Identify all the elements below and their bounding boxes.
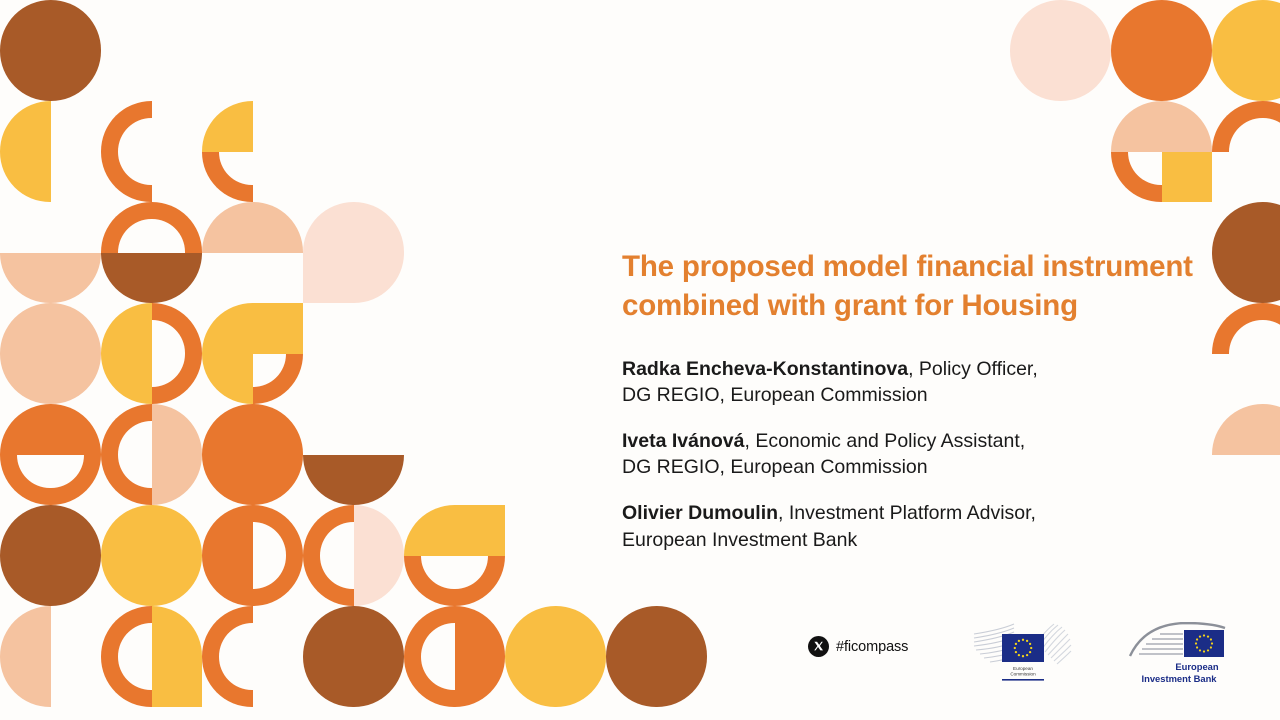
pattern-quarter-arc <box>101 606 152 657</box>
pattern-quarter-arc <box>1111 152 1162 203</box>
pattern-circle <box>1212 303 1280 404</box>
pattern-quarter-pie <box>202 404 253 455</box>
pattern-quarter-sq <box>152 657 203 708</box>
pattern-quarter-pie <box>51 253 102 304</box>
pattern-circle <box>303 202 404 303</box>
european-investment-bank-logo: European Investment Bank <box>1127 622 1231 688</box>
pattern-quarter-pie <box>202 101 253 152</box>
pattern-circle <box>1212 101 1280 202</box>
pattern-quarter-arc <box>101 455 152 506</box>
speaker-name: Radka Encheva-Konstantinova <box>622 358 908 380</box>
pattern-quarter-pie <box>202 354 253 405</box>
pattern-circle <box>101 505 202 606</box>
pattern-quarter-arc <box>101 101 152 152</box>
pattern-quarter-pie <box>101 303 152 354</box>
pattern-quarter-pie <box>556 657 607 708</box>
speaker-name: Olivier Dumoulin <box>622 502 778 524</box>
pattern-quarter-arc <box>202 657 253 708</box>
pattern-quarter-pie <box>0 354 51 405</box>
pattern-quarter-pie <box>0 606 51 657</box>
pattern-quarter-pie <box>1111 51 1162 102</box>
pattern-quarter-arc <box>202 606 253 657</box>
pattern-quarter-pie <box>51 556 102 607</box>
pattern-quarter-pie <box>0 152 51 203</box>
pattern-circle <box>101 606 202 707</box>
pattern-quarter-pie <box>152 556 203 607</box>
pattern-quarter-pie <box>101 253 152 304</box>
pattern-quarter-pie <box>455 606 506 657</box>
ficompass-social[interactable]: #ficompass <box>808 636 908 657</box>
speaker-affiliation: DG REGIO, European Commission <box>622 384 928 406</box>
pattern-quarter-pie <box>51 404 102 455</box>
pattern-quarter-pie <box>1061 0 1112 51</box>
pattern-quarter-pie <box>354 253 405 304</box>
pattern-quarter-pie <box>0 556 51 607</box>
pattern-quarter-arc <box>455 556 506 607</box>
pattern-quarter-pie <box>505 606 556 657</box>
footer-logos: #ficompass European <box>622 618 1232 708</box>
pattern-circle <box>505 606 606 707</box>
pattern-quarter-pie <box>1212 202 1263 253</box>
pattern-quarter-pie <box>303 202 354 253</box>
pattern-quarter-arc <box>101 657 152 708</box>
pattern-circle <box>0 505 101 606</box>
pattern-circle <box>0 303 101 404</box>
pattern-quarter-pie <box>253 404 304 455</box>
pattern-circle <box>303 606 404 707</box>
pattern-circle <box>0 404 101 505</box>
pattern-circle <box>1111 101 1212 202</box>
pattern-quarter-arc <box>404 606 455 657</box>
pattern-quarter-pie <box>1010 0 1061 51</box>
pattern-circle <box>101 202 202 303</box>
pattern-quarter-arc <box>1212 101 1263 152</box>
pattern-quarter-pie <box>1263 51 1280 102</box>
pattern-quarter-arc <box>101 404 152 455</box>
ec-caption-line2: Commission <box>1010 672 1036 677</box>
pattern-quarter-arc <box>253 556 304 607</box>
speaker-entry: Iveta Ivánová, Economic and Policy Assis… <box>622 428 1202 480</box>
pattern-quarter-pie <box>152 253 203 304</box>
pattern-quarter-arc <box>1263 101 1280 152</box>
pattern-quarter-pie <box>1263 253 1280 304</box>
pattern-quarter-pie <box>0 51 51 102</box>
pattern-quarter-arc <box>253 354 304 405</box>
x-twitter-icon[interactable] <box>808 636 829 657</box>
pattern-quarter-pie <box>1010 51 1061 102</box>
pattern-quarter-pie <box>0 253 51 304</box>
pattern-circle <box>404 606 505 707</box>
pattern-quarter-arc <box>1263 303 1280 354</box>
pattern-circle <box>1212 202 1280 303</box>
pattern-quarter-pie <box>0 505 51 556</box>
speaker-name: Iveta Ivánová <box>622 430 744 452</box>
ec-caption-line1: European <box>1013 666 1033 671</box>
pattern-quarter-pie <box>202 505 253 556</box>
pattern-quarter-pie <box>1061 51 1112 102</box>
pattern-quarter-pie <box>354 556 405 607</box>
pattern-circle <box>202 404 303 505</box>
pattern-quarter-arc <box>152 354 203 405</box>
pattern-quarter-sq <box>303 253 354 304</box>
pattern-quarter-pie <box>152 404 203 455</box>
pattern-quarter-arc <box>1212 303 1263 354</box>
pattern-circle <box>0 202 101 303</box>
pattern-quarter-pie <box>152 455 203 506</box>
pattern-quarter-arc <box>0 455 51 506</box>
pattern-circle <box>303 505 404 606</box>
pattern-quarter-pie <box>51 303 102 354</box>
pattern-quarter-pie <box>404 505 455 556</box>
pattern-circle <box>1010 0 1111 101</box>
pattern-quarter-pie <box>0 0 51 51</box>
pattern-quarter-pie <box>354 657 405 708</box>
pattern-quarter-pie <box>556 606 607 657</box>
pattern-quarter-pie <box>1162 101 1213 152</box>
pattern-circle <box>0 0 101 101</box>
pattern-circle <box>1212 0 1280 101</box>
pattern-quarter-pie <box>202 202 253 253</box>
pattern-quarter-pie <box>1263 0 1280 51</box>
pattern-quarter-arc <box>51 455 102 506</box>
speaker-affiliation: DG REGIO, European Commission <box>622 456 928 478</box>
eib-caption-line1: European <box>1175 661 1219 672</box>
pattern-quarter-pie <box>1212 0 1263 51</box>
pattern-circle <box>202 505 303 606</box>
pattern-quarter-arc <box>253 505 304 556</box>
european-commission-logo: European Commission <box>970 622 1076 684</box>
pattern-quarter-pie <box>1111 101 1162 152</box>
pattern-quarter-arc <box>152 202 203 253</box>
pattern-quarter-arc <box>101 152 152 203</box>
pattern-quarter-pie <box>1162 51 1213 102</box>
pattern-circle <box>101 303 202 404</box>
pattern-circle <box>1111 0 1212 101</box>
pattern-quarter-arc <box>101 202 152 253</box>
pattern-quarter-arc <box>404 556 455 607</box>
pattern-quarter-pie <box>101 354 152 405</box>
pattern-circle <box>101 101 202 202</box>
pattern-quarter-pie <box>303 657 354 708</box>
pattern-quarter-pie <box>202 303 253 354</box>
pattern-circle <box>202 202 303 303</box>
speaker-role: , Economic and Policy Assistant, <box>744 430 1025 452</box>
pattern-quarter-pie <box>51 505 102 556</box>
pattern-quarter-pie <box>253 202 304 253</box>
pattern-quarter-pie <box>202 455 253 506</box>
pattern-quarter-sq <box>1162 152 1213 203</box>
pattern-quarter-pie <box>1212 253 1263 304</box>
pattern-quarter-arc <box>152 303 203 354</box>
pattern-circle <box>202 606 303 707</box>
pattern-quarter-pie <box>1162 0 1213 51</box>
pattern-circle <box>202 303 303 404</box>
pattern-quarter-pie <box>0 101 51 152</box>
pattern-circle <box>101 404 202 505</box>
pattern-quarter-pie <box>303 455 354 506</box>
pattern-quarter-sq <box>253 303 304 354</box>
pattern-circle <box>0 606 101 707</box>
pattern-quarter-arc <box>404 657 455 708</box>
pattern-quarter-arc <box>202 152 253 203</box>
pattern-circle <box>404 505 505 606</box>
content-block: The proposed model financial instrument … <box>622 248 1202 553</box>
pattern-quarter-pie <box>0 303 51 354</box>
speaker-affiliation: European Investment Bank <box>622 529 857 551</box>
pattern-quarter-pie <box>51 0 102 51</box>
pattern-quarter-pie <box>101 505 152 556</box>
pattern-quarter-pie <box>202 556 253 607</box>
speaker-entry: Radka Encheva-Konstantinova, Policy Offi… <box>622 356 1202 408</box>
pattern-circle <box>1212 404 1280 505</box>
pattern-circle <box>202 101 303 202</box>
pattern-quarter-pie <box>152 606 203 657</box>
slide-canvas: The proposed model financial instrument … <box>0 0 1280 720</box>
pattern-quarter-pie <box>1212 51 1263 102</box>
pattern-quarter-pie <box>505 657 556 708</box>
pattern-quarter-pie <box>354 606 405 657</box>
pattern-quarter-pie <box>455 657 506 708</box>
ficompass-label: #ficompass <box>836 639 908 655</box>
speaker-role: , Investment Platform Advisor, <box>778 502 1036 524</box>
pattern-quarter-pie <box>253 455 304 506</box>
pattern-quarter-pie <box>0 657 51 708</box>
pattern-quarter-arc <box>303 556 354 607</box>
speaker-role: , Policy Officer, <box>908 358 1038 380</box>
pattern-quarter-pie <box>1111 0 1162 51</box>
pattern-quarter-pie <box>1212 404 1263 455</box>
pattern-quarter-pie <box>51 51 102 102</box>
pattern-quarter-pie <box>51 354 102 405</box>
pattern-quarter-arc <box>303 505 354 556</box>
pattern-quarter-pie <box>354 202 405 253</box>
page-title: The proposed model financial instrument … <box>622 248 1202 326</box>
pattern-quarter-pie <box>101 556 152 607</box>
eib-caption-line2: Investment Bank <box>1141 673 1217 684</box>
pattern-quarter-pie <box>354 505 405 556</box>
pattern-quarter-pie <box>354 455 405 506</box>
pattern-quarter-pie <box>1263 404 1280 455</box>
speaker-entry: Olivier Dumoulin, Investment Platform Ad… <box>622 500 1202 552</box>
pattern-circle <box>0 101 101 202</box>
pattern-quarter-pie <box>303 606 354 657</box>
pattern-quarter-pie <box>0 404 51 455</box>
pattern-quarter-pie <box>152 505 203 556</box>
pattern-quarter-sq <box>455 505 506 556</box>
pattern-circle <box>303 404 404 505</box>
pattern-quarter-pie <box>1263 202 1280 253</box>
